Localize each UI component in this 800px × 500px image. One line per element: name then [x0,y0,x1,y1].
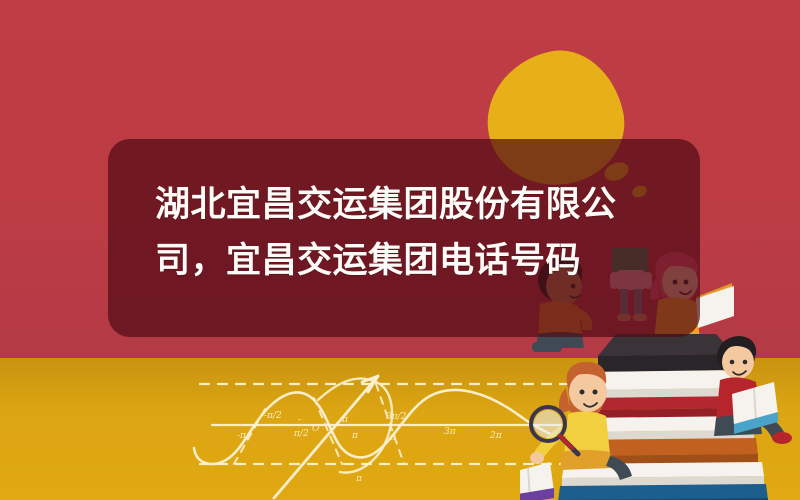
promo-banner: -π -π/2 - π/2 O π π 3π/2 π 3π 2π π [0,0,800,500]
background-yellow-panel [0,358,800,500]
page-title: 湖北宜昌交运集团股份有限公司，宜昌交运集团电话号码 [155,177,674,289]
headline-overlay-panel: 湖北宜昌交运集团股份有限公司，宜昌交运集团电话号码 [108,139,700,337]
